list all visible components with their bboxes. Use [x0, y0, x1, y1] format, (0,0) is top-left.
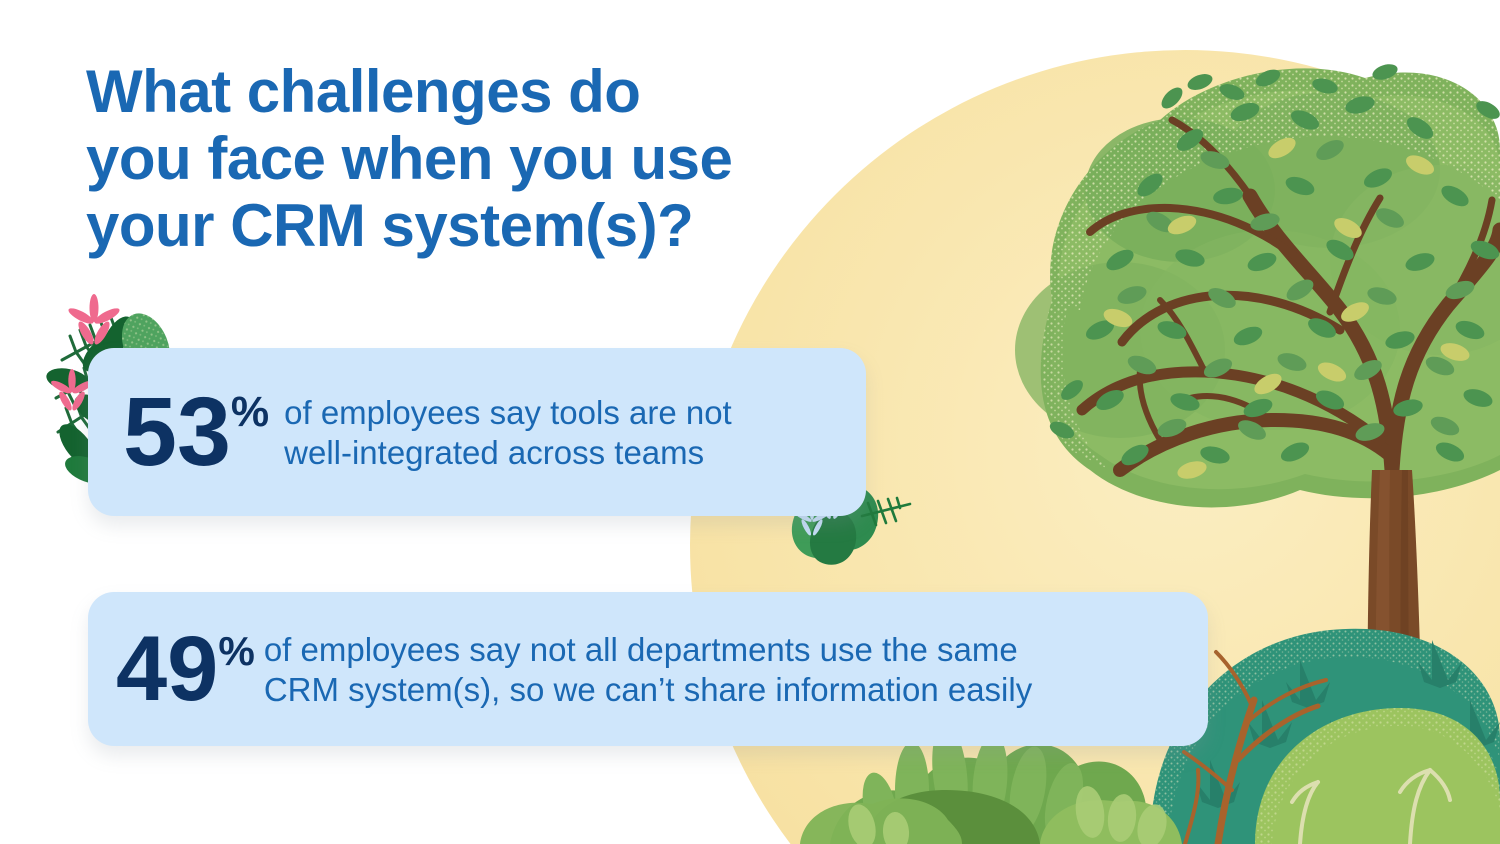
percent-sign: %	[218, 631, 253, 672]
page-title: What challenges do you face when you use…	[86, 58, 866, 260]
tree-leaves	[1047, 61, 1500, 481]
stat-value: 49	[116, 627, 218, 712]
tree-branches	[1082, 120, 1500, 470]
tree-canopy	[1015, 68, 1500, 507]
percent-sign: %	[231, 391, 268, 434]
stat-figure: 53 %	[123, 387, 268, 476]
stat-card-49: 49 % of employees say not all department…	[88, 592, 1208, 746]
tree-trunk	[1367, 470, 1424, 844]
stat-description: of employees say tools are not well-inte…	[284, 393, 848, 474]
stat-figure: 49 %	[116, 627, 254, 712]
infographic-canvas: What challenges do you face when you use…	[0, 0, 1500, 844]
stat-value: 53	[123, 387, 231, 476]
stat-description: of employees say not all departments use…	[264, 630, 1190, 711]
stat-card-53: 53 % of employees say tools are not well…	[88, 348, 866, 516]
